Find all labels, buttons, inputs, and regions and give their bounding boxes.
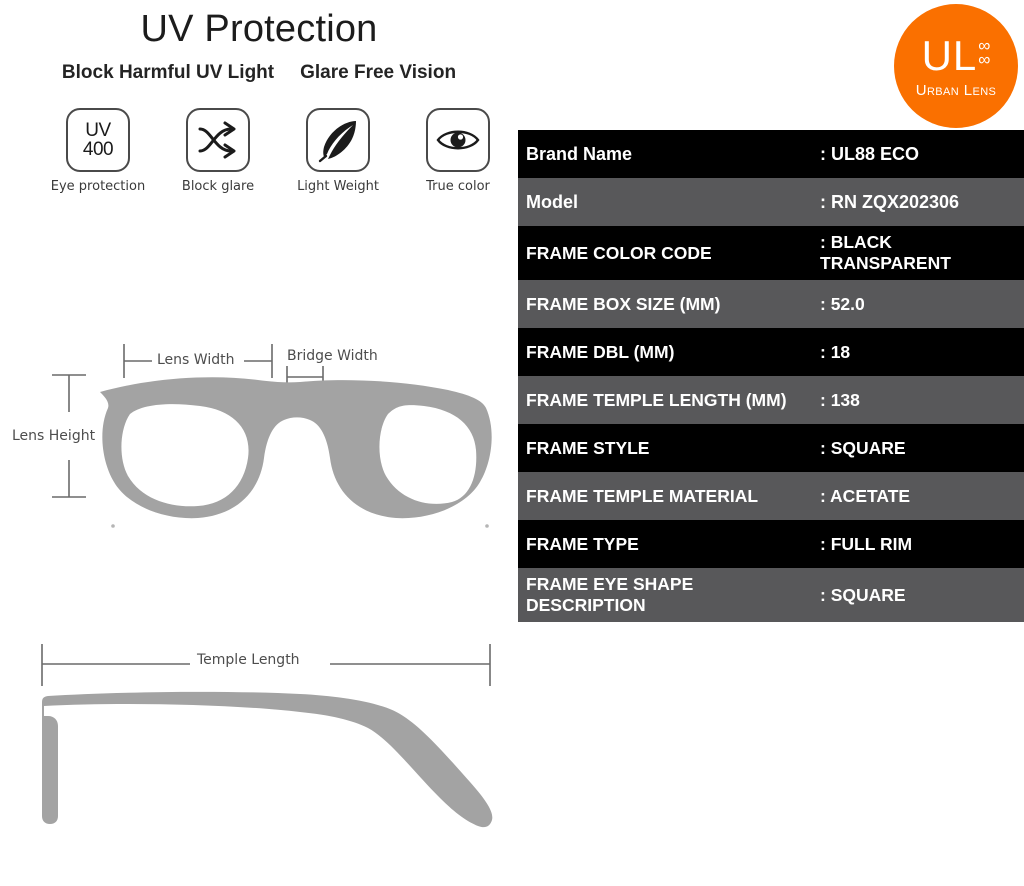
frame-temple-diagram: Temple Length [0,630,518,845]
uv-subtitle-block-light: Block Harmful UV Light [62,62,274,84]
spec-value: : BLACK TRANSPARENT [820,232,1024,274]
brand-logo: UL ∞ ∞ URBAN LENS [894,4,1018,128]
spec-key: Brand Name [526,144,820,165]
spec-key: FRAME BOX SIZE (MM) [526,294,820,315]
lens-width-label: Lens Width [157,352,234,368]
eye-icon [426,108,490,172]
logo-lens-rest: ENS [972,86,996,98]
product-spec-image: UV Protection Block Harmful UV Light Gla… [0,0,1024,886]
spec-row: Model: RN ZQX202306 [518,178,1024,226]
spec-key: FRAME STYLE [526,438,820,459]
product-illustration-panel: UV Protection Block Harmful UV Light Gla… [0,0,518,886]
spec-key: FRAME EYE SHAPE DESCRIPTION [526,574,820,616]
specification-table: Brand Name: UL88 ECOModel: RN ZQX202306F… [518,130,1024,622]
spec-key: FRAME TYPE [526,534,820,555]
feather-icon [306,108,370,172]
spec-value: : FULL RIM [820,534,1024,555]
temple-length-label: Temple Length [197,652,300,668]
spec-row: FRAME DBL (MM): 18 [518,328,1024,376]
frame-front-diagram: Lens Width Bridge Width Lens Height [0,330,518,560]
uv-subtitle-glare-free: Glare Free Vision [300,62,456,84]
uv-protection-subtitles: Block Harmful UV Light Glare Free Vision [0,62,518,84]
spec-row: FRAME BOX SIZE (MM): 52.0 [518,280,1024,328]
logo-brand-name: URBAN LENS [916,82,997,99]
spec-row: FRAME COLOR CODE: BLACK TRANSPARENT [518,226,1024,280]
spec-value: : ACETATE [820,486,1024,507]
spec-row: Brand Name: UL88 ECO [518,130,1024,178]
feature-eye-protection: UV 400 Eye protection [48,108,148,194]
uv400-icon: UV 400 [66,108,130,172]
feature-label-block-glare: Block glare [168,179,268,194]
lens-height-label: Lens Height [12,428,95,444]
feature-icon-row: UV 400 Eye protection [48,108,508,194]
spec-value: : RN ZQX202306 [820,192,1024,213]
spec-key: Model [526,192,820,213]
feature-true-color: True color [408,108,508,194]
spec-key: FRAME TEMPLE LENGTH (MM) [526,390,820,411]
feature-label-true-color: True color [408,179,508,194]
uv400-line2: 400 [83,140,113,159]
spec-value: : 52.0 [820,294,1024,315]
logo-initials: UL [922,35,978,77]
uv400-line1: UV [83,121,113,140]
spec-value: : SQUARE [820,585,1024,606]
feature-label-light-weight: Light Weight [288,179,388,194]
logo-monogram: UL ∞ ∞ [922,33,991,79]
spec-value: : UL88 ECO [820,144,1024,165]
uv-protection-title: UV Protection [0,8,518,51]
spec-value: : 18 [820,342,1024,363]
spec-row: FRAME TEMPLE LENGTH (MM): 138 [518,376,1024,424]
spec-value: : SQUARE [820,438,1024,459]
bridge-width-label: Bridge Width [287,348,378,364]
infinity-icon: ∞ ∞ [978,39,990,67]
spec-row: FRAME TYPE: FULL RIM [518,520,1024,568]
spec-key: FRAME DBL (MM) [526,342,820,363]
feature-label-eye-protection: Eye protection [48,179,148,194]
spec-row: FRAME STYLE: SQUARE [518,424,1024,472]
spec-row: FRAME EYE SHAPE DESCRIPTION: SQUARE [518,568,1024,622]
crossing-arrows-icon [186,108,250,172]
feature-light-weight: Light Weight [288,108,388,194]
spec-value: : 138 [820,390,1024,411]
infinity-bottom: ∞ [978,53,990,67]
feature-block-glare: Block glare [168,108,268,194]
spec-row: FRAME TEMPLE MATERIAL: ACETATE [518,472,1024,520]
spec-key: FRAME TEMPLE MATERIAL [526,486,820,507]
logo-urban-rest: RBAN [927,86,959,98]
logo-urban-cap: U [916,82,927,99]
spec-key: FRAME COLOR CODE [526,243,820,264]
